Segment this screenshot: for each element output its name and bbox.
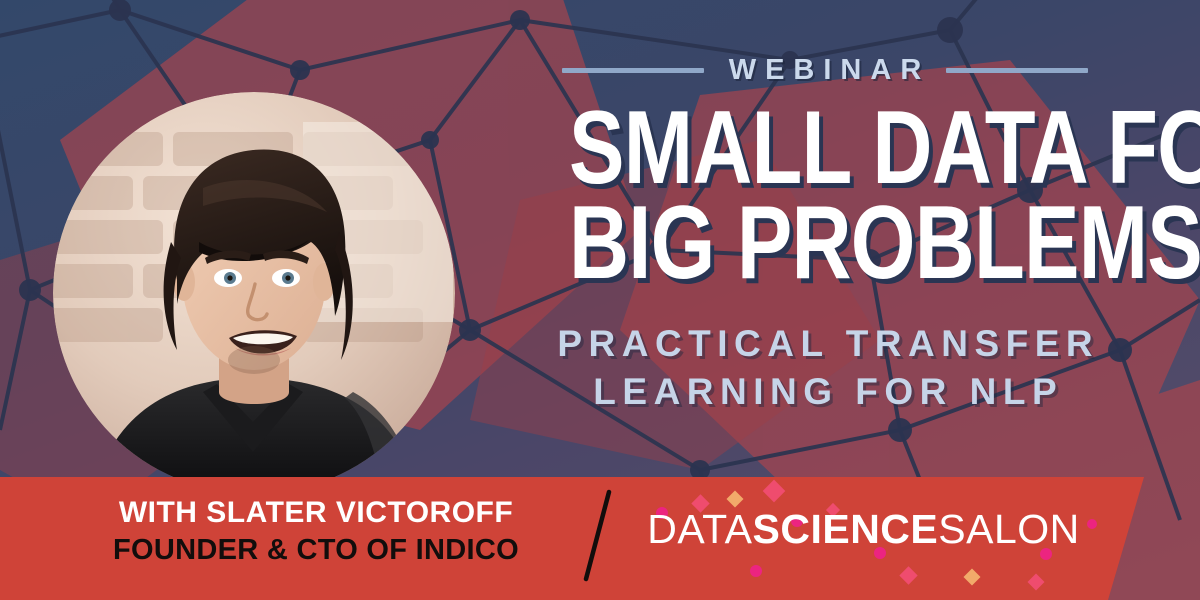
portrait-illustration [53,92,455,494]
headline-block: WEBINAR SMALL DATA FOR BIG PROBLEMS PRAC… [505,50,1145,416]
speaker-portrait [53,92,455,494]
speaker-name: SLATER VICTOROFF [206,496,513,529]
slash-divider-icon [583,488,613,583]
logo-part-science: SCIENCE [753,506,939,552]
rule-left-decoration [562,68,704,73]
title-line-1: SMALL DATA FOR [569,98,1081,199]
rule-right-decoration [946,68,1088,73]
speaker-credit: WITH SLATER VICTOROFF FOUNDER & CTO OF I… [66,495,566,568]
speaker-role: FOUNDER & CTO OF INDICO [66,533,566,567]
eyebrow-label: WEBINAR [720,54,931,87]
logo-part-data: DATA [647,506,752,552]
speaker-with-label: WITH [119,496,206,529]
logo-part-salon: SALON [938,506,1080,552]
eyebrow-row: WEBINAR [505,50,1145,90]
webinar-promo-banner: WEBINAR SMALL DATA FOR BIG PROBLEMS PRAC… [0,0,1200,600]
datasciencesalon-logo[interactable]: DATASCIENCESALON [641,506,1086,553]
speaker-name-line: WITH SLATER VICTOROFF [66,495,566,530]
subtitle-line-1: PRACTICAL TRANSFER [505,320,1145,368]
subtitle-line-2: LEARNING FOR NLP [505,368,1145,416]
title-line-2: BIG PROBLEMS [569,193,1081,294]
